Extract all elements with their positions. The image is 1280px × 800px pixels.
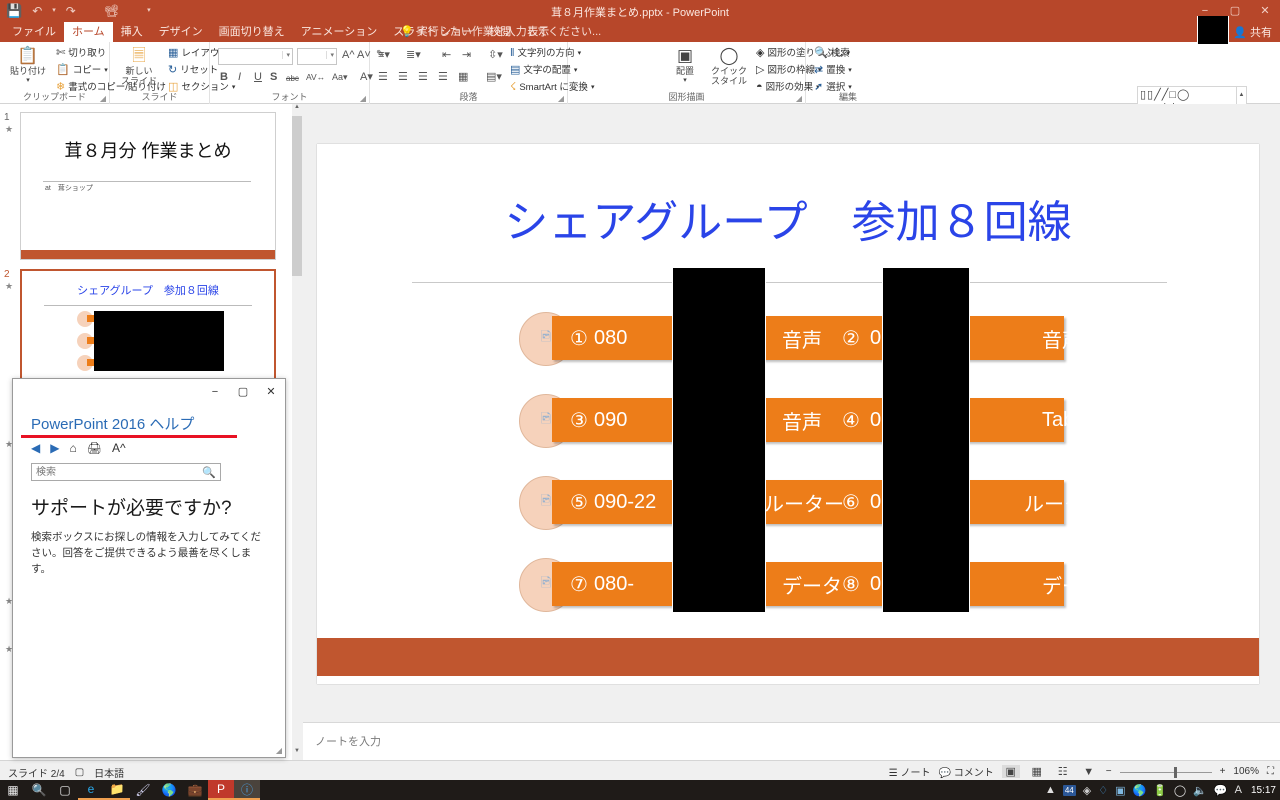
slide-sorter-icon[interactable]: ▦ xyxy=(1028,765,1046,778)
windows-start-icon[interactable]: ▦ xyxy=(0,780,26,800)
redacted-region-right xyxy=(882,268,970,612)
share-label: 共有 xyxy=(1250,24,1272,40)
row-1-left-type: 音声 xyxy=(782,324,822,353)
slide-row-3: 🖻 ⑤ 090-22 ルーター ⑥ 080- ルーター xyxy=(317,472,1259,532)
zoom-percent[interactable]: 106% xyxy=(1233,766,1259,777)
row-4-left-value: 080- xyxy=(594,573,634,596)
ribbon-group-paragraph: ≡▾ ≣▾ ⇤ ⇥ ⇳▾ ☰ ☰ ☰ ☰ ▦ ▤▾ ‖ 文字列の方向 ▾ ▤ 文… xyxy=(370,42,568,104)
slide-counter[interactable]: スライド 2/4 xyxy=(8,765,65,780)
tab-file[interactable]: ファイル xyxy=(4,22,64,42)
bluetooth-icon[interactable]: ♢ xyxy=(1098,784,1108,797)
wifi-icon[interactable]: ◯ xyxy=(1174,784,1186,797)
help-icon[interactable]: ⓘ xyxy=(234,780,260,800)
row-1-left-value: 080 xyxy=(594,327,627,350)
ribbon-group-font: ▾ ▾ A^ A˅ ✎ B I U S abc AV↔ Aa▾ A▾ フォント … xyxy=(210,42,370,104)
tell-me-placeholder: 実行したい作業を入力してください... xyxy=(417,26,602,38)
tray-app-icon[interactable]: ▣ xyxy=(1115,784,1125,797)
home-icon[interactable]: ⌂ xyxy=(69,441,76,455)
person-add-icon: 👤 xyxy=(1233,26,1247,39)
arrange-icon: ▣ xyxy=(664,46,706,66)
replace-button[interactable]: ⇄ 置換 ▾ xyxy=(814,64,852,77)
row-2-bar[interactable]: ③ 090 音声 ④ 080- Tablet xyxy=(552,398,1064,442)
row-2-right-number: ④ xyxy=(842,408,860,433)
character-spacing-button[interactable]: AV↔ xyxy=(306,70,325,84)
status-bar-right: ☰ ノート 💬 コメント ▣ ▦ ☷ ▼ − + 106% ⛶ xyxy=(889,764,1274,779)
chevron-down-icon: ▾ xyxy=(104,64,108,77)
arrange-label: 配置 xyxy=(676,66,694,76)
row-3-right-number: ⑥ xyxy=(842,490,860,515)
drawing-dialog-launcher[interactable]: ◢ xyxy=(796,94,802,103)
row-4-right-number: ⑧ xyxy=(842,572,860,597)
print-icon[interactable]: 🖨 xyxy=(87,441,102,455)
tab-transitions[interactable]: 画面切り替え xyxy=(211,22,293,42)
tab-home[interactable]: ホーム xyxy=(64,22,113,42)
thumbnail-animation-icon-1: ★ xyxy=(5,124,13,135)
underline-button[interactable]: U xyxy=(254,70,262,84)
italic-button[interactable]: I xyxy=(238,70,241,84)
align-text-icon: ▤ xyxy=(510,64,520,77)
help-window-controls: − ▢ ✕ xyxy=(201,379,285,405)
row-2-right-type: Tablet xyxy=(1042,409,1095,432)
help-close-button[interactable]: ✕ xyxy=(257,379,285,405)
text-size-icon[interactable]: A^ xyxy=(112,441,126,455)
thumbnail-scrollbar-thumb[interactable] xyxy=(292,116,302,276)
font-dialog-launcher[interactable]: ◢ xyxy=(360,94,366,103)
help-minimize-button[interactable]: − xyxy=(201,379,229,405)
picture-icon: 🖻 xyxy=(541,410,551,432)
help-body-text: 検索ボックスにお探しの情報を入力してみてください。回答をご提供できるよう最善を尽… xyxy=(31,529,267,577)
row-2-left-number: ③ xyxy=(570,408,588,433)
search-icon[interactable]: 🔍 xyxy=(26,780,52,800)
group-label-slides: スライド xyxy=(110,90,209,103)
scissors-icon: ✄ xyxy=(56,47,65,60)
notes-placeholder: ノートを入力 xyxy=(315,733,381,749)
accessibility-icon[interactable]: ▢ xyxy=(75,767,84,778)
ribbon-tab-strip: ファイル ホーム 挿入 デザイン 画面切り替え アニメーション スライド ショー… xyxy=(0,22,1280,42)
fit-slide-icon[interactable]: ⛶ xyxy=(1267,766,1274,777)
quick-styles-button[interactable]: ◯ クイック スタイル xyxy=(706,46,752,86)
row-1-right-number: ② xyxy=(842,326,860,351)
slide-row-2: 🖻 ③ 090 音声 ④ 080- Tablet xyxy=(317,390,1259,450)
forward-arrow-icon[interactable]: ▶ xyxy=(50,441,59,455)
row-4-bar[interactable]: ⑦ 080- データ ⑧ 080- データ xyxy=(552,562,1064,606)
align-right-button[interactable]: ☰ xyxy=(418,70,428,84)
text-shadow-button[interactable]: S xyxy=(270,70,277,84)
tab-design[interactable]: デザイン xyxy=(151,22,211,42)
paragraph-dialog-launcher[interactable]: ◢ xyxy=(558,94,564,103)
normal-view-icon[interactable]: ▣ xyxy=(1002,765,1020,778)
text-direction-grid-button[interactable]: ▤▾ xyxy=(486,70,502,84)
shapes-row-1: ▯▯╱╱□◯ xyxy=(1140,88,1234,103)
magnifier-icon: 🔍 xyxy=(814,47,828,60)
notes-button-label: ノート xyxy=(901,768,931,779)
picture-icon: 🖻 xyxy=(541,574,551,596)
share-button[interactable]: 👤 共有 xyxy=(1233,24,1272,40)
help-search-input[interactable] xyxy=(36,465,196,480)
comments-button[interactable]: 💬 コメント xyxy=(939,764,994,779)
help-window-title: PowerPoint 2016 ヘルプ xyxy=(31,413,194,434)
battery-percent-badge[interactable]: 44 xyxy=(1063,785,1076,796)
font-name-box[interactable]: ▾ xyxy=(218,48,293,65)
text-direction-icon: ‖ xyxy=(510,47,515,60)
slide-title-rule xyxy=(412,282,1167,283)
comments-button-label: コメント xyxy=(954,768,994,779)
row-4-left-number: ⑦ xyxy=(570,572,588,597)
row-4-right-type: データ xyxy=(1042,570,1102,599)
clipboard-dialog-launcher[interactable]: ◢ xyxy=(100,94,106,103)
help-maximize-button[interactable]: ▢ xyxy=(229,379,257,405)
text-direction-label: 文字列の方向 xyxy=(518,47,575,60)
group-label-editing: 編集 xyxy=(806,90,890,103)
row-3-right-type: ルーター xyxy=(1024,488,1104,517)
thumbnail-2-rule xyxy=(44,305,252,306)
system-tray: ▲ 44 ◈ ♢ ▣ 🌎 🔋 ◯ 🔈 💬 A 15:17 xyxy=(1045,780,1276,800)
row-3-bar[interactable]: ⑤ 090-22 ルーター ⑥ 080- ルーター xyxy=(552,480,1064,524)
thumbnail-2-title: シェアグループ 参加８回線 xyxy=(22,282,274,298)
help-search-box[interactable]: 🔍 xyxy=(31,463,221,481)
notes-pane[interactable]: ノートを入力 xyxy=(303,722,1280,760)
picture-icon: 🖻 xyxy=(541,492,551,514)
redacted-region-titlebar xyxy=(1197,16,1229,44)
outline-pen-icon: ▷ xyxy=(756,64,764,77)
row-2-left-type: 音声 xyxy=(782,406,822,435)
taskbar-items: ▦ 🔍 ▢ e 📁 🖌 🌎 💼 P ⓘ xyxy=(0,780,260,800)
ime-mode-icon[interactable]: A xyxy=(1235,784,1242,796)
redacted-region-left xyxy=(672,268,766,612)
slide-accent-bar xyxy=(317,638,1259,676)
slide-editing-stage[interactable]: シェアグループ 参加８回線 🖻 ① 080 音声 ② 090- 音声 🖻 ③ xyxy=(303,104,1280,722)
chevron-down-icon: ▾ xyxy=(664,76,706,86)
gallery-scroll-up-icon[interactable]: ▲ xyxy=(1237,87,1246,103)
ribbon-group-slides: 🗏 新しい スライド ▦ レイアウト ▾ ↻ リセット ◫ セクション ▾ スラ… xyxy=(110,42,210,104)
new-slide-icon: 🗏 xyxy=(114,46,164,66)
status-bar: スライド 2/4 ▢ 日本語 ☰ ノート 💬 コメント ▣ ▦ ☷ ▼ − + … xyxy=(0,760,1280,780)
new-slide-button[interactable]: 🗏 新しい スライド xyxy=(114,46,164,86)
row-3-left-type: ルーター xyxy=(764,488,844,517)
clock[interactable]: 15:17 xyxy=(1251,785,1276,796)
zoom-slider-track xyxy=(1120,772,1212,773)
align-text-label: 文字の配置 xyxy=(523,64,571,77)
paste-button[interactable]: 📋 貼り付け ▾ xyxy=(6,46,50,86)
group-label-font: フォント xyxy=(210,90,369,103)
columns-button[interactable]: ▦ xyxy=(458,70,468,84)
thumbnail-number-2: 2 xyxy=(4,269,10,280)
tell-me-box[interactable]: 💡実行したい作業を入力してください... xyxy=(400,22,601,42)
thumbnail-scroll-down-button[interactable]: ▼ xyxy=(292,748,302,760)
zoom-slider-knob[interactable] xyxy=(1174,767,1177,778)
copy-label: コピー xyxy=(73,64,102,77)
help-window[interactable]: − ▢ ✕ PowerPoint 2016 ヘルプ ◀ ▶ ⌂ 🖨 A^ 🔍 サ… xyxy=(12,378,286,758)
row-3-left-number: ⑤ xyxy=(570,490,588,515)
thumbnail-2-redaction-divider xyxy=(224,311,225,371)
zoom-in-button[interactable]: + xyxy=(1220,766,1226,777)
thumbnail-scroll-up-button[interactable]: ▲ xyxy=(292,104,302,116)
increase-indent-button[interactable]: ⇥ xyxy=(462,48,471,62)
firefox-icon[interactable]: 🌎 xyxy=(156,780,182,800)
replace-label: 置換 xyxy=(826,64,845,77)
chevron-down-icon: ▾ xyxy=(6,76,50,86)
paste-label: 貼り付け xyxy=(10,66,46,76)
numbering-button[interactable]: ≣▾ xyxy=(406,48,421,62)
thumbnail-2-redacted-region xyxy=(94,311,224,371)
slide-row-1: 🖻 ① 080 音声 ② 090- 音声 xyxy=(317,308,1259,368)
slideshow-view-icon[interactable]: ▼ xyxy=(1080,766,1098,778)
paint-icon[interactable]: 🖌 xyxy=(130,780,156,800)
window-title: 茸８月作業まとめ.pptx - PowerPoint xyxy=(0,4,1280,20)
row-1-right-type: 音声 xyxy=(1042,324,1082,353)
ribbon-group-clipboard: 📋 貼り付け ▾ ✄ 切り取り 📋 コピー ▾ ❄ 書式のコピー/貼り付け クリ… xyxy=(0,42,110,104)
slide-thumbnail-1[interactable]: 茸８月分 作業まとめ at 茸ショップ xyxy=(20,112,276,260)
windows-taskbar: ▦ 🔍 ▢ e 📁 🖌 🌎 💼 P ⓘ ▲ 44 ◈ ♢ ▣ 🌎 🔋 ◯ 🔈 💬… xyxy=(0,780,1280,800)
row-1-left-number: ① xyxy=(570,326,588,351)
chevron-down-icon: ▾ xyxy=(848,64,852,77)
slide-title[interactable]: シェアグループ 参加８回線 xyxy=(317,186,1259,250)
help-heading: サポートが必要ですか? xyxy=(31,493,232,520)
row-3-left-value: 090-22 xyxy=(594,491,656,514)
picture-icon: 🖻 xyxy=(541,328,551,350)
chevron-down-icon: ▾ xyxy=(282,51,290,59)
copy-button[interactable]: 📋 コピー ▾ xyxy=(56,64,108,77)
action-center-icon[interactable]: 💬 xyxy=(1214,784,1228,797)
change-case-button[interactable]: Aa▾ xyxy=(332,70,348,84)
strikethrough-button[interactable]: abc xyxy=(286,72,299,86)
thumbnail-1-rule xyxy=(43,181,251,182)
row-4-left-type: データ xyxy=(782,570,842,599)
thumbnail-1-accent-bar xyxy=(21,250,275,259)
magnifier-icon[interactable]: 🔍 xyxy=(202,466,216,479)
reset-icon: ↻ xyxy=(168,64,177,77)
justify-button[interactable]: ☰ xyxy=(438,70,448,84)
globe-icon[interactable]: 🌎 xyxy=(1133,784,1147,797)
thumbnail-number-1: 1 xyxy=(4,112,10,123)
cut-label: 切り取り xyxy=(68,47,106,60)
current-slide[interactable]: シェアグループ 参加８回線 🖻 ① 080 音声 ② 090- 音声 🖻 ③ xyxy=(317,144,1259,684)
language-indicator[interactable]: 日本語 xyxy=(94,765,124,780)
clipboard-icon: 📋 xyxy=(6,46,50,66)
reading-view-icon[interactable]: ☷ xyxy=(1054,765,1072,778)
row-1-bar[interactable]: ① 080 音声 ② 090- 音声 xyxy=(552,316,1064,360)
help-toolbar: ◀ ▶ ⌂ 🖨 A^ xyxy=(31,441,126,455)
tab-animations[interactable]: アニメーション xyxy=(293,22,386,42)
new-slide-label-2: スライド xyxy=(114,76,164,86)
status-bar-left: スライド 2/4 ▢ 日本語 xyxy=(8,765,124,780)
cut-button[interactable]: ✄ 切り取り xyxy=(56,47,106,60)
group-label-paragraph: 段落 xyxy=(370,90,567,103)
thumbnail-1-subtitle: at 茸ショップ xyxy=(45,183,93,193)
slide-row-4: 🖻 ⑦ 080- データ ⑧ 080- データ xyxy=(317,554,1259,614)
copy-icon: 📋 xyxy=(56,64,70,77)
powerpoint-icon[interactable]: P xyxy=(208,780,234,800)
quick-styles-label-2: スタイル xyxy=(706,76,752,86)
fill-bucket-icon: ◈ xyxy=(756,47,764,60)
quick-styles-label-1: クイック xyxy=(711,66,747,76)
notes-button[interactable]: ☰ ノート xyxy=(889,764,931,779)
thumbnail-animation-icon-2: ★ xyxy=(5,281,13,292)
group-label-drawing: 図形描画 xyxy=(568,90,805,103)
increase-font-size-button[interactable]: A^ xyxy=(342,48,355,62)
zoom-slider[interactable] xyxy=(1120,766,1212,778)
lightbulb-icon: 💡 xyxy=(400,26,414,38)
task-view-icon[interactable]: ▢ xyxy=(52,780,78,800)
edge-browser-icon[interactable]: e xyxy=(78,780,104,800)
help-resize-grip[interactable]: ◢ xyxy=(276,746,282,755)
bold-button[interactable]: B xyxy=(220,70,228,84)
powerpoint-window: 💾 ↶ ▾ ↷ 📽 ▾ 茸８月作業まとめ.pptx - PowerPoint −… xyxy=(0,0,1280,800)
decrease-font-size-button[interactable]: A˅ xyxy=(357,48,371,62)
battery-icon[interactable]: 🔋 xyxy=(1153,784,1167,797)
ribbon: 📋 貼り付け ▾ ✄ 切り取り 📋 コピー ▾ ❄ 書式のコピー/貼り付け クリ… xyxy=(0,42,1280,104)
chevron-down-icon: ▾ xyxy=(326,51,334,59)
find-button[interactable]: 🔍 検索 xyxy=(814,47,850,60)
quick-styles-icon: ◯ xyxy=(706,46,752,66)
help-title-underline xyxy=(21,435,237,438)
replace-icon: ⇄ xyxy=(814,64,823,77)
chevron-up-icon[interactable]: ▲ xyxy=(1045,784,1056,796)
thumbnail-1-title: 茸８月分 作業まとめ xyxy=(21,137,275,163)
line-spacing-button[interactable]: ⇳▾ xyxy=(488,48,503,62)
store-icon[interactable]: 💼 xyxy=(182,780,208,800)
speaker-icon[interactable]: 🔈 xyxy=(1193,784,1207,797)
bullets-button[interactable]: ≡▾ xyxy=(378,48,390,62)
tab-insert[interactable]: 挿入 xyxy=(113,22,151,42)
title-bar: 💾 ↶ ▾ ↷ 📽 ▾ 茸８月作業まとめ.pptx - PowerPoint −… xyxy=(0,0,1280,22)
ribbon-group-editing: 🔍 検索 ⇄ 置換 ▾ ➚ 選択 ▾ 編集 xyxy=(806,42,890,104)
group-label-clipboard: クリップボード xyxy=(0,90,109,103)
decrease-indent-button[interactable]: ⇤ xyxy=(442,48,451,62)
arrange-button[interactable]: ▣ 配置 ▾ xyxy=(664,46,706,86)
zoom-out-button[interactable]: − xyxy=(1106,766,1112,777)
new-slide-label-1: 新しい xyxy=(125,66,152,76)
ribbon-group-drawing: ▯▯╱╱□◯ ▢△┘└⇨⇩ ⎒✦⌒∧{} ▲ ▼ ▼ ▣ 配置 ▾ ◯ クイック… xyxy=(568,42,806,104)
align-center-button[interactable]: ☰ xyxy=(398,70,408,84)
back-arrow-icon[interactable]: ◀ xyxy=(31,441,40,455)
row-2-left-value: 090 xyxy=(594,409,627,432)
onedrive-icon[interactable]: ◈ xyxy=(1083,784,1091,797)
font-size-box[interactable]: ▾ xyxy=(297,48,337,65)
file-explorer-icon[interactable]: 📁 xyxy=(104,780,130,800)
align-left-button[interactable]: ☰ xyxy=(378,70,388,84)
find-label: 検索 xyxy=(831,47,850,60)
close-button[interactable]: ✕ xyxy=(1250,0,1280,22)
layout-icon: ▦ xyxy=(168,47,178,60)
